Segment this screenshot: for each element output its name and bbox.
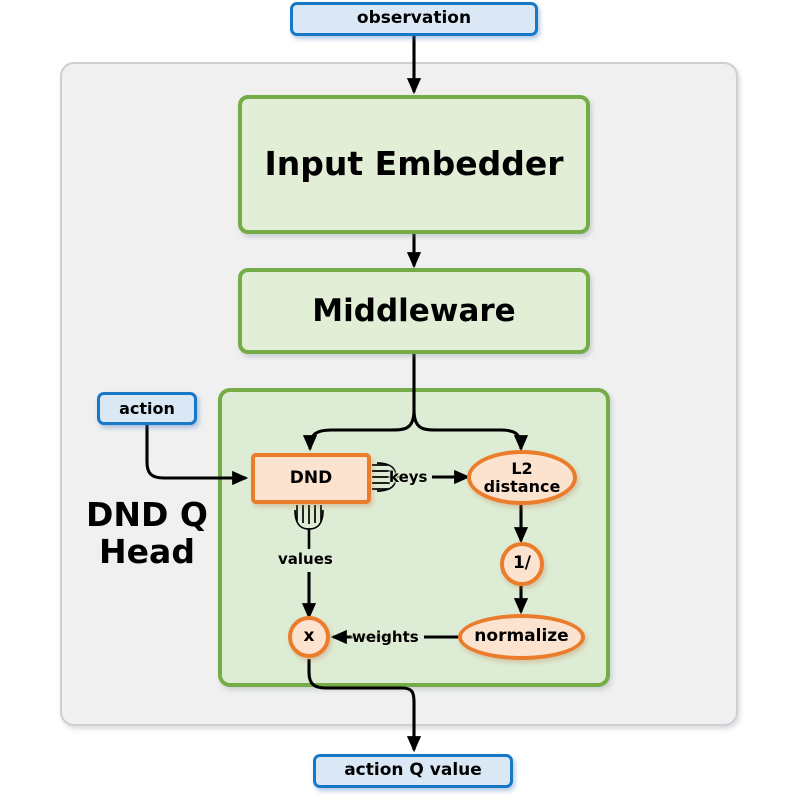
- node-normalize[interactable]: normalize: [458, 614, 585, 660]
- edge-label-keys: keys: [389, 468, 427, 486]
- node-reciprocal-label: 1/: [513, 554, 531, 573]
- node-observation[interactable]: observation: [290, 2, 538, 36]
- node-normalize-label: normalize: [474, 627, 568, 646]
- node-action-q-value[interactable]: action Q value: [313, 754, 513, 788]
- node-action-q-value-label: action Q value: [344, 761, 482, 780]
- node-input-embedder[interactable]: Input Embedder: [238, 95, 590, 234]
- node-reciprocal[interactable]: 1/: [500, 542, 544, 586]
- node-l2-distance-label-line2: distance: [484, 478, 561, 496]
- node-multiply-label: x: [304, 627, 315, 646]
- node-action[interactable]: action: [97, 392, 197, 425]
- node-l2-distance-label-line1: L2: [511, 460, 532, 478]
- node-observation-label: observation: [357, 9, 471, 28]
- diagram-canvas: observation Input Embedder Middleware ac…: [0, 0, 800, 800]
- node-middleware-label: Middleware: [312, 294, 515, 329]
- node-middleware[interactable]: Middleware: [238, 268, 590, 354]
- node-input-embedder-label: Input Embedder: [265, 146, 564, 183]
- node-action-label: action: [119, 400, 175, 418]
- node-multiply[interactable]: x: [288, 616, 330, 658]
- node-l2-distance[interactable]: L2 distance: [467, 450, 577, 505]
- edge-label-weights: weights: [352, 628, 419, 646]
- node-dnd-label: DND: [290, 469, 332, 488]
- edge-label-values: values: [278, 550, 333, 568]
- node-dnd[interactable]: DND: [251, 453, 371, 504]
- dnd-q-head-title: DND Q Head: [72, 497, 222, 571]
